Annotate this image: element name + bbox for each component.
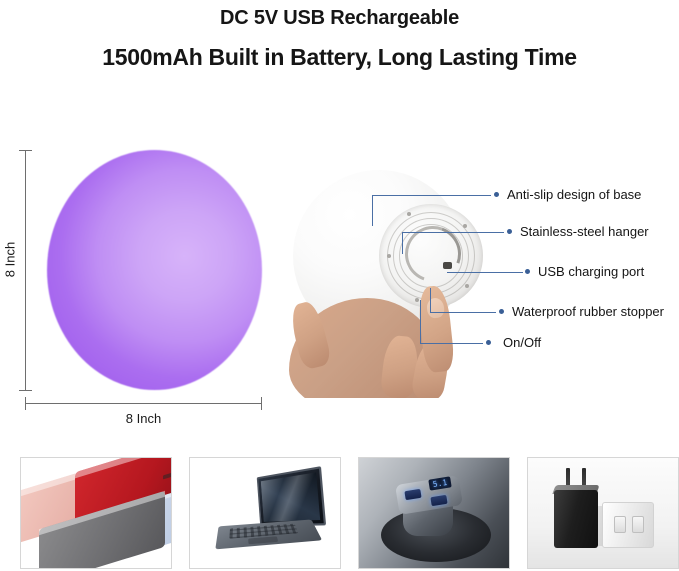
leader-usb-horizontal (447, 272, 523, 273)
height-tick-top (19, 150, 32, 151)
callout-label-usb-port: USB charging port (538, 265, 644, 279)
callout-label-stopper: Waterproof rubber stopper (512, 305, 664, 319)
base-screw (407, 212, 411, 216)
width-dimension-label: 8 Inch (25, 411, 262, 426)
compatible-chargers-strip: 5.1 (0, 455, 679, 571)
callout-dot-anti-slip (494, 192, 499, 197)
adapter-usb-slot (614, 516, 626, 533)
white-wall-adapter (602, 502, 654, 548)
usb-charging-port (443, 262, 452, 269)
callout-label-on-off: On/Off (503, 336, 541, 350)
callout-dot-stopper (499, 309, 504, 314)
infographic-page: DC 5V USB Rechargeable 1500mAh Built in … (0, 0, 679, 571)
height-dimension-line (25, 150, 26, 390)
leader-anti-slip-horizontal (372, 195, 491, 196)
callout-label-hanger: Stainless-steel hanger (520, 225, 649, 239)
page-title-primary: DC 5V USB Rechargeable (0, 3, 679, 33)
purple-sphere-illustration (47, 150, 262, 390)
callout-dot-usb (525, 269, 530, 274)
laptop-screen (257, 466, 326, 527)
black-wall-adapter (554, 490, 598, 548)
leader-onoff-horizontal (420, 343, 483, 344)
heading-block: DC 5V USB Rechargeable 1500mAh Built in … (0, 0, 679, 73)
callout-label-anti-slip: Anti-slip design of base (507, 188, 641, 202)
leader-hanger-horizontal (402, 232, 504, 233)
hand-holding-lamp (283, 276, 501, 398)
leader-onoff-vertical (420, 300, 421, 343)
height-dimension-label: 8 Inch (3, 238, 18, 282)
width-dimension-line (25, 403, 262, 404)
adapter-usb-slot (632, 516, 644, 533)
width-tick-left (25, 397, 26, 410)
leader-stopper-horizontal (430, 312, 496, 313)
width-tick-right (261, 397, 262, 410)
callout-dot-onoff (486, 340, 491, 345)
leader-hanger-vertical (402, 232, 403, 254)
base-screw (387, 254, 391, 258)
laptop-keyboard-base (215, 520, 322, 550)
callout-dot-hanger (507, 229, 512, 234)
leader-stopper-vertical (430, 288, 431, 312)
thumbnail-wall-adapter (527, 457, 679, 569)
page-title-secondary: 1500mAh Built in Battery, Long Lasting T… (0, 41, 679, 73)
thumbnail-car-charger: 5.1 (358, 457, 510, 569)
laptop-screen-image (261, 472, 320, 522)
base-screw (463, 224, 467, 228)
laptop-trackpad (248, 536, 278, 544)
leader-anti-slip-vertical (372, 196, 373, 226)
thumbnail-laptop (189, 457, 341, 569)
height-tick-bottom (19, 390, 32, 391)
thumbnail-power-bank (20, 457, 172, 569)
lamp-product-photo (283, 168, 501, 398)
dimension-diagram: 8 Inch 8 Inch (0, 130, 290, 430)
